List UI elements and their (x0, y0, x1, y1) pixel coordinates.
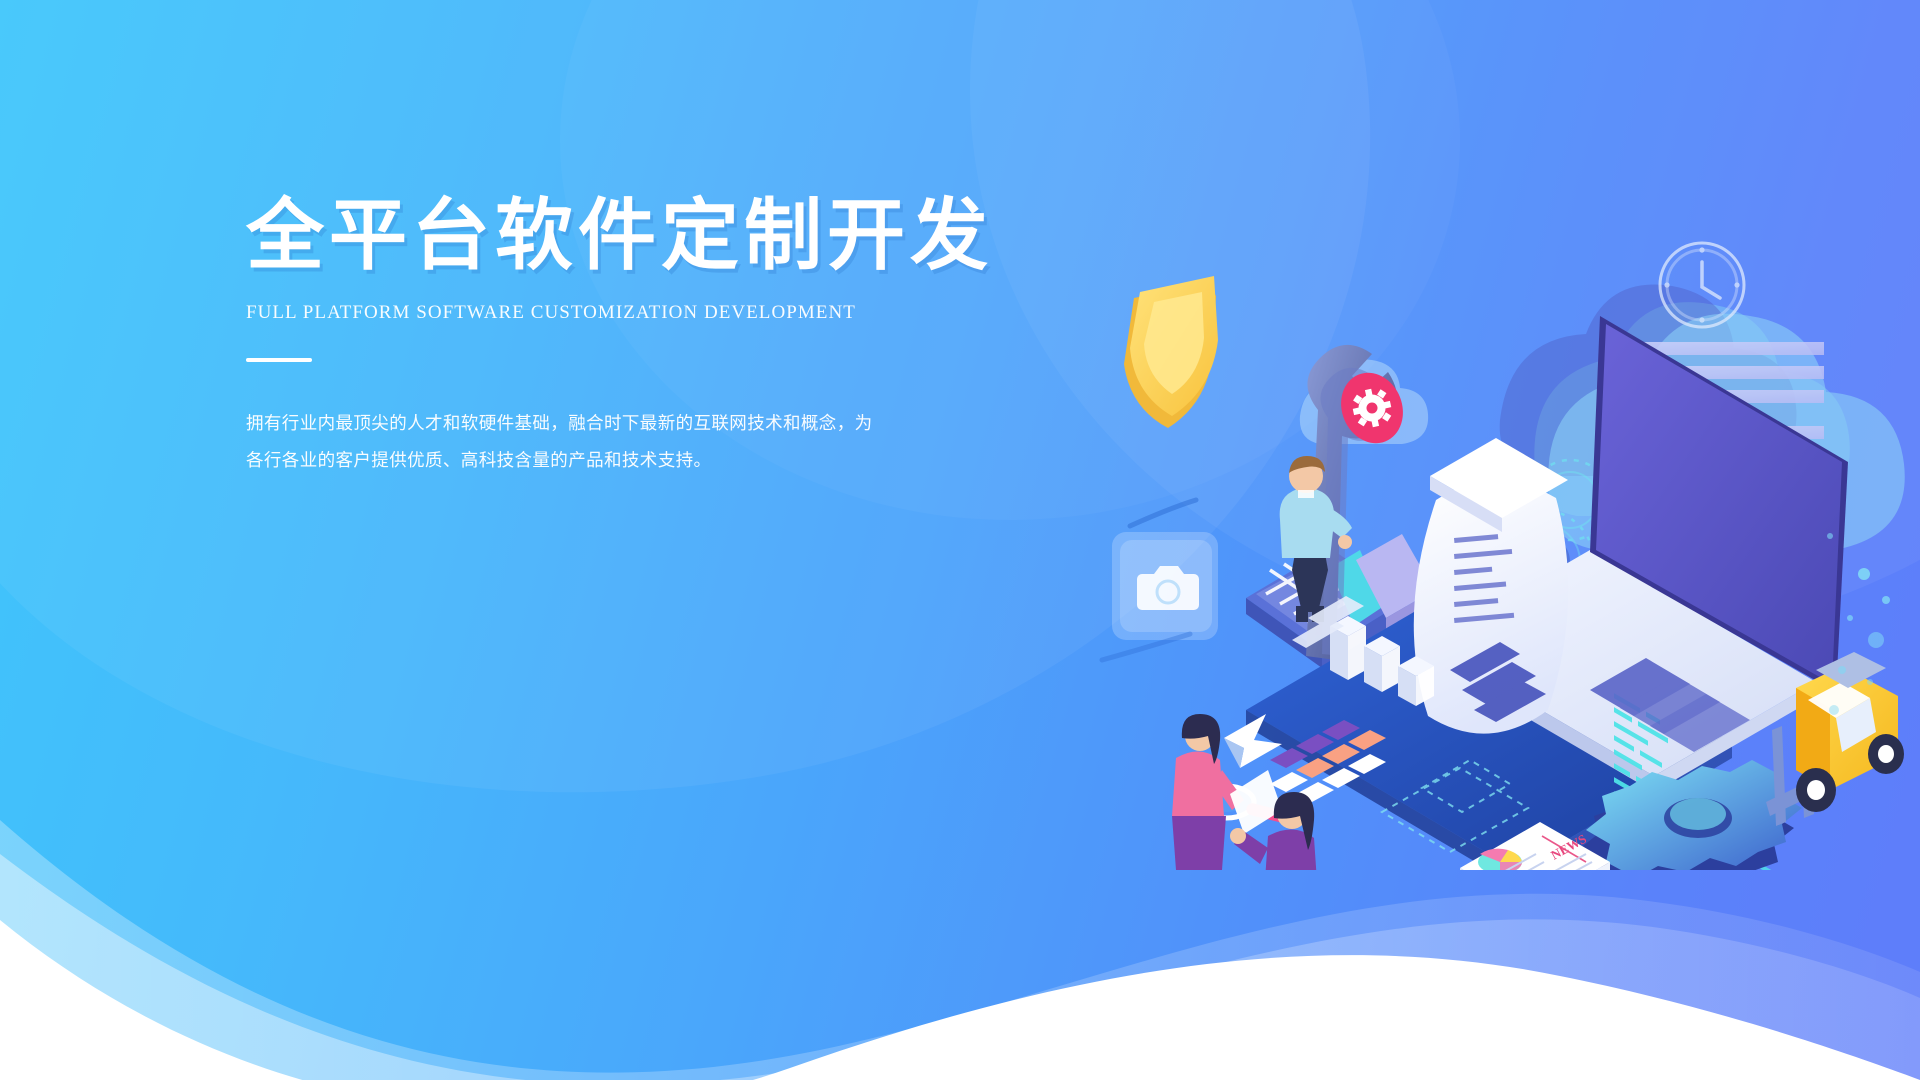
camera-icon (1102, 500, 1218, 660)
subtitle-english: FULL PLATFORM SOFTWARE CUSTOMIZATION DEV… (246, 302, 946, 324)
hero-banner: NEWS (0, 0, 1920, 1080)
title-divider (246, 358, 312, 362)
shield-icon (1124, 276, 1218, 428)
description-text: 拥有行业内最顶尖的人才和软硬件基础，融合时下最新的互联网技术和概念，为各行各业的… (246, 406, 886, 480)
bottom-wave-decoration (0, 750, 1920, 1080)
printed-report-paper (1414, 438, 1568, 734)
page-title: 全平台软件定制开发 (246, 196, 946, 276)
hero-text-column: 全平台软件定制开发 FULL PLATFORM SOFTWARE CUSTOMI… (246, 196, 946, 480)
